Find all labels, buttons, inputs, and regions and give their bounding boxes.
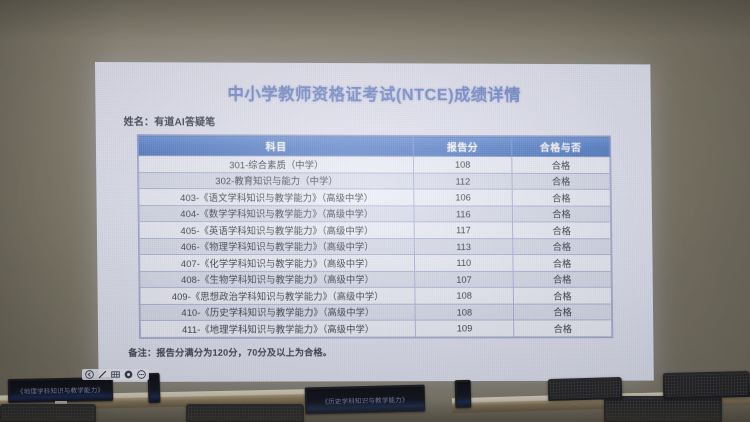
cell-pass: 合格: [512, 173, 610, 190]
table-row: 409-《思想政治学科知识与教学能力》（高级中学）108合格: [140, 287, 611, 304]
table-row: 404-《数学学科知识与教学能力》（高级中学）116合格: [139, 205, 610, 222]
cell-pass: 合格: [513, 304, 611, 320]
table-row: 410-《历史学科知识与教学能力》（高级中学）108合格: [140, 304, 611, 321]
column-header-score: 报告分: [413, 136, 512, 156]
cell-pass: 合格: [514, 320, 612, 336]
cell-subject: 406-《物理学科知识与教学能力》（高级中学）: [139, 238, 414, 255]
floor-shadow-band: [0, 400, 750, 422]
table-header: 科目 报告分 合格与否: [138, 136, 610, 157]
chair-far-right-mesh: [665, 373, 749, 397]
cell-subject: 410-《历史学科知识与教学能力》（高级中学）: [140, 304, 415, 321]
monitor-far-left-screen: [149, 374, 159, 401]
cell-pass: 合格: [513, 271, 611, 287]
pen-icon[interactable]: [98, 370, 107, 379]
table-row: 403-《语文学科知识与教学能力》（高级中学）106合格: [139, 189, 610, 206]
cell-pass: 合格: [512, 206, 610, 222]
slide-overview-icon[interactable]: [111, 370, 120, 379]
column-header-pass: 合格与否: [512, 137, 610, 157]
chair-right: [548, 377, 623, 401]
monitor-far-left: [147, 373, 160, 403]
cell-score: 117: [414, 222, 513, 238]
cell-score: 112: [414, 173, 513, 190]
cell-subject: 409-《思想政治学科知识与教学能力》（高级中学）: [140, 287, 415, 304]
cell-score: 108: [413, 156, 512, 173]
cell-score: 109: [415, 320, 514, 336]
monitor-left-screen: 《地理学科知识与教学能力》: [9, 378, 111, 401]
cell-pass: 合格: [513, 287, 611, 303]
cell-subject: 408-《生物学科知识与教学能力》（高级中学）: [140, 271, 415, 288]
cell-pass: 合格: [513, 222, 611, 238]
cell-subject: 302-教育知识与能力（中学）: [139, 172, 414, 189]
column-header-subject: 科目: [138, 136, 413, 157]
projected-slide: 中小学教师资格证考试(NTCE)成绩详情 姓名：有道AI答疑笔 科目 报告分 合…: [95, 62, 654, 382]
cell-subject: 403-《语文学科知识与教学能力》（高级中学）: [139, 189, 414, 206]
cell-pass: 合格: [513, 238, 611, 254]
cell-subject: 405-《英语学科知识与教学能力》（高级中学）: [139, 222, 414, 239]
chair-far-right: [663, 371, 750, 399]
slide-content: 中小学教师资格证考试(NTCE)成绩详情 姓名：有道AI答疑笔 科目 报告分 合…: [95, 62, 654, 382]
table-row: 408-《生物学科知识与教学能力》（高级中学）107合格: [140, 271, 611, 288]
cell-score: 108: [415, 304, 514, 320]
monitor-left-text: 《地理学科知识与教学能力》: [17, 384, 104, 396]
previous-slide-icon[interactable]: [85, 370, 94, 379]
footer-note: 备注：报告分满分为120分，70分及以上为合格。: [128, 344, 638, 359]
cell-score: 116: [414, 205, 513, 221]
cell-subject: 407-《化学学科知识与教学能力》（高级中学）: [140, 254, 415, 270]
cell-score: 108: [415, 287, 514, 303]
cell-pass: 合格: [512, 156, 610, 173]
classroom-photo-scene: 中小学教师资格证考试(NTCE)成绩详情 姓名：有道AI答疑笔 科目 报告分 合…: [0, 0, 750, 422]
laser-pointer-icon[interactable]: [124, 370, 133, 379]
cell-subject: 411-《地理学科知识与教学能力》（高级中学）: [140, 320, 415, 337]
cell-subject: 404-《数学学科知识与教学能力》（高级中学）: [139, 205, 414, 222]
table-row: 407-《化学学科知识与教学能力》（高级中学）110合格: [140, 254, 611, 270]
cell-pass: 合格: [512, 189, 610, 205]
table-header-row: 科目 报告分 合格与否: [138, 136, 610, 157]
table-row: 411-《地理学科知识与教学能力》（高级中学）109合格: [140, 320, 611, 337]
cell-score: 110: [414, 255, 513, 271]
cell-score: 106: [414, 189, 513, 206]
cell-score: 107: [415, 271, 514, 287]
cell-subject: 301-综合素质（中学）: [139, 156, 414, 173]
page-title: 中小学教师资格证考试(NTCE)成绩详情: [111, 80, 635, 106]
cell-score: 113: [414, 238, 513, 254]
presentation-toolbar[interactable]: [82, 369, 149, 380]
table-row: 405-《英语学科知识与教学能力》（高级中学）117合格: [139, 222, 610, 239]
table-body: 301-综合素质（中学）108合格302-教育知识与能力（中学）112合格403…: [139, 156, 612, 337]
student-name-line: 姓名：有道AI答疑笔: [124, 113, 636, 130]
chair-right-mesh: [550, 379, 620, 399]
score-table: 科目 报告分 合格与否 301-综合素质（中学）108合格302-教育知识与能力…: [138, 135, 613, 337]
table-row: 301-综合素质（中学）108合格: [139, 156, 610, 173]
cell-pass: 合格: [513, 255, 611, 271]
table-row: 302-教育知识与能力（中学）112合格: [139, 172, 610, 189]
more-options-icon[interactable]: [137, 370, 146, 379]
table-row: 406-《物理学科知识与教学能力》（高级中学）113合格: [139, 238, 610, 255]
